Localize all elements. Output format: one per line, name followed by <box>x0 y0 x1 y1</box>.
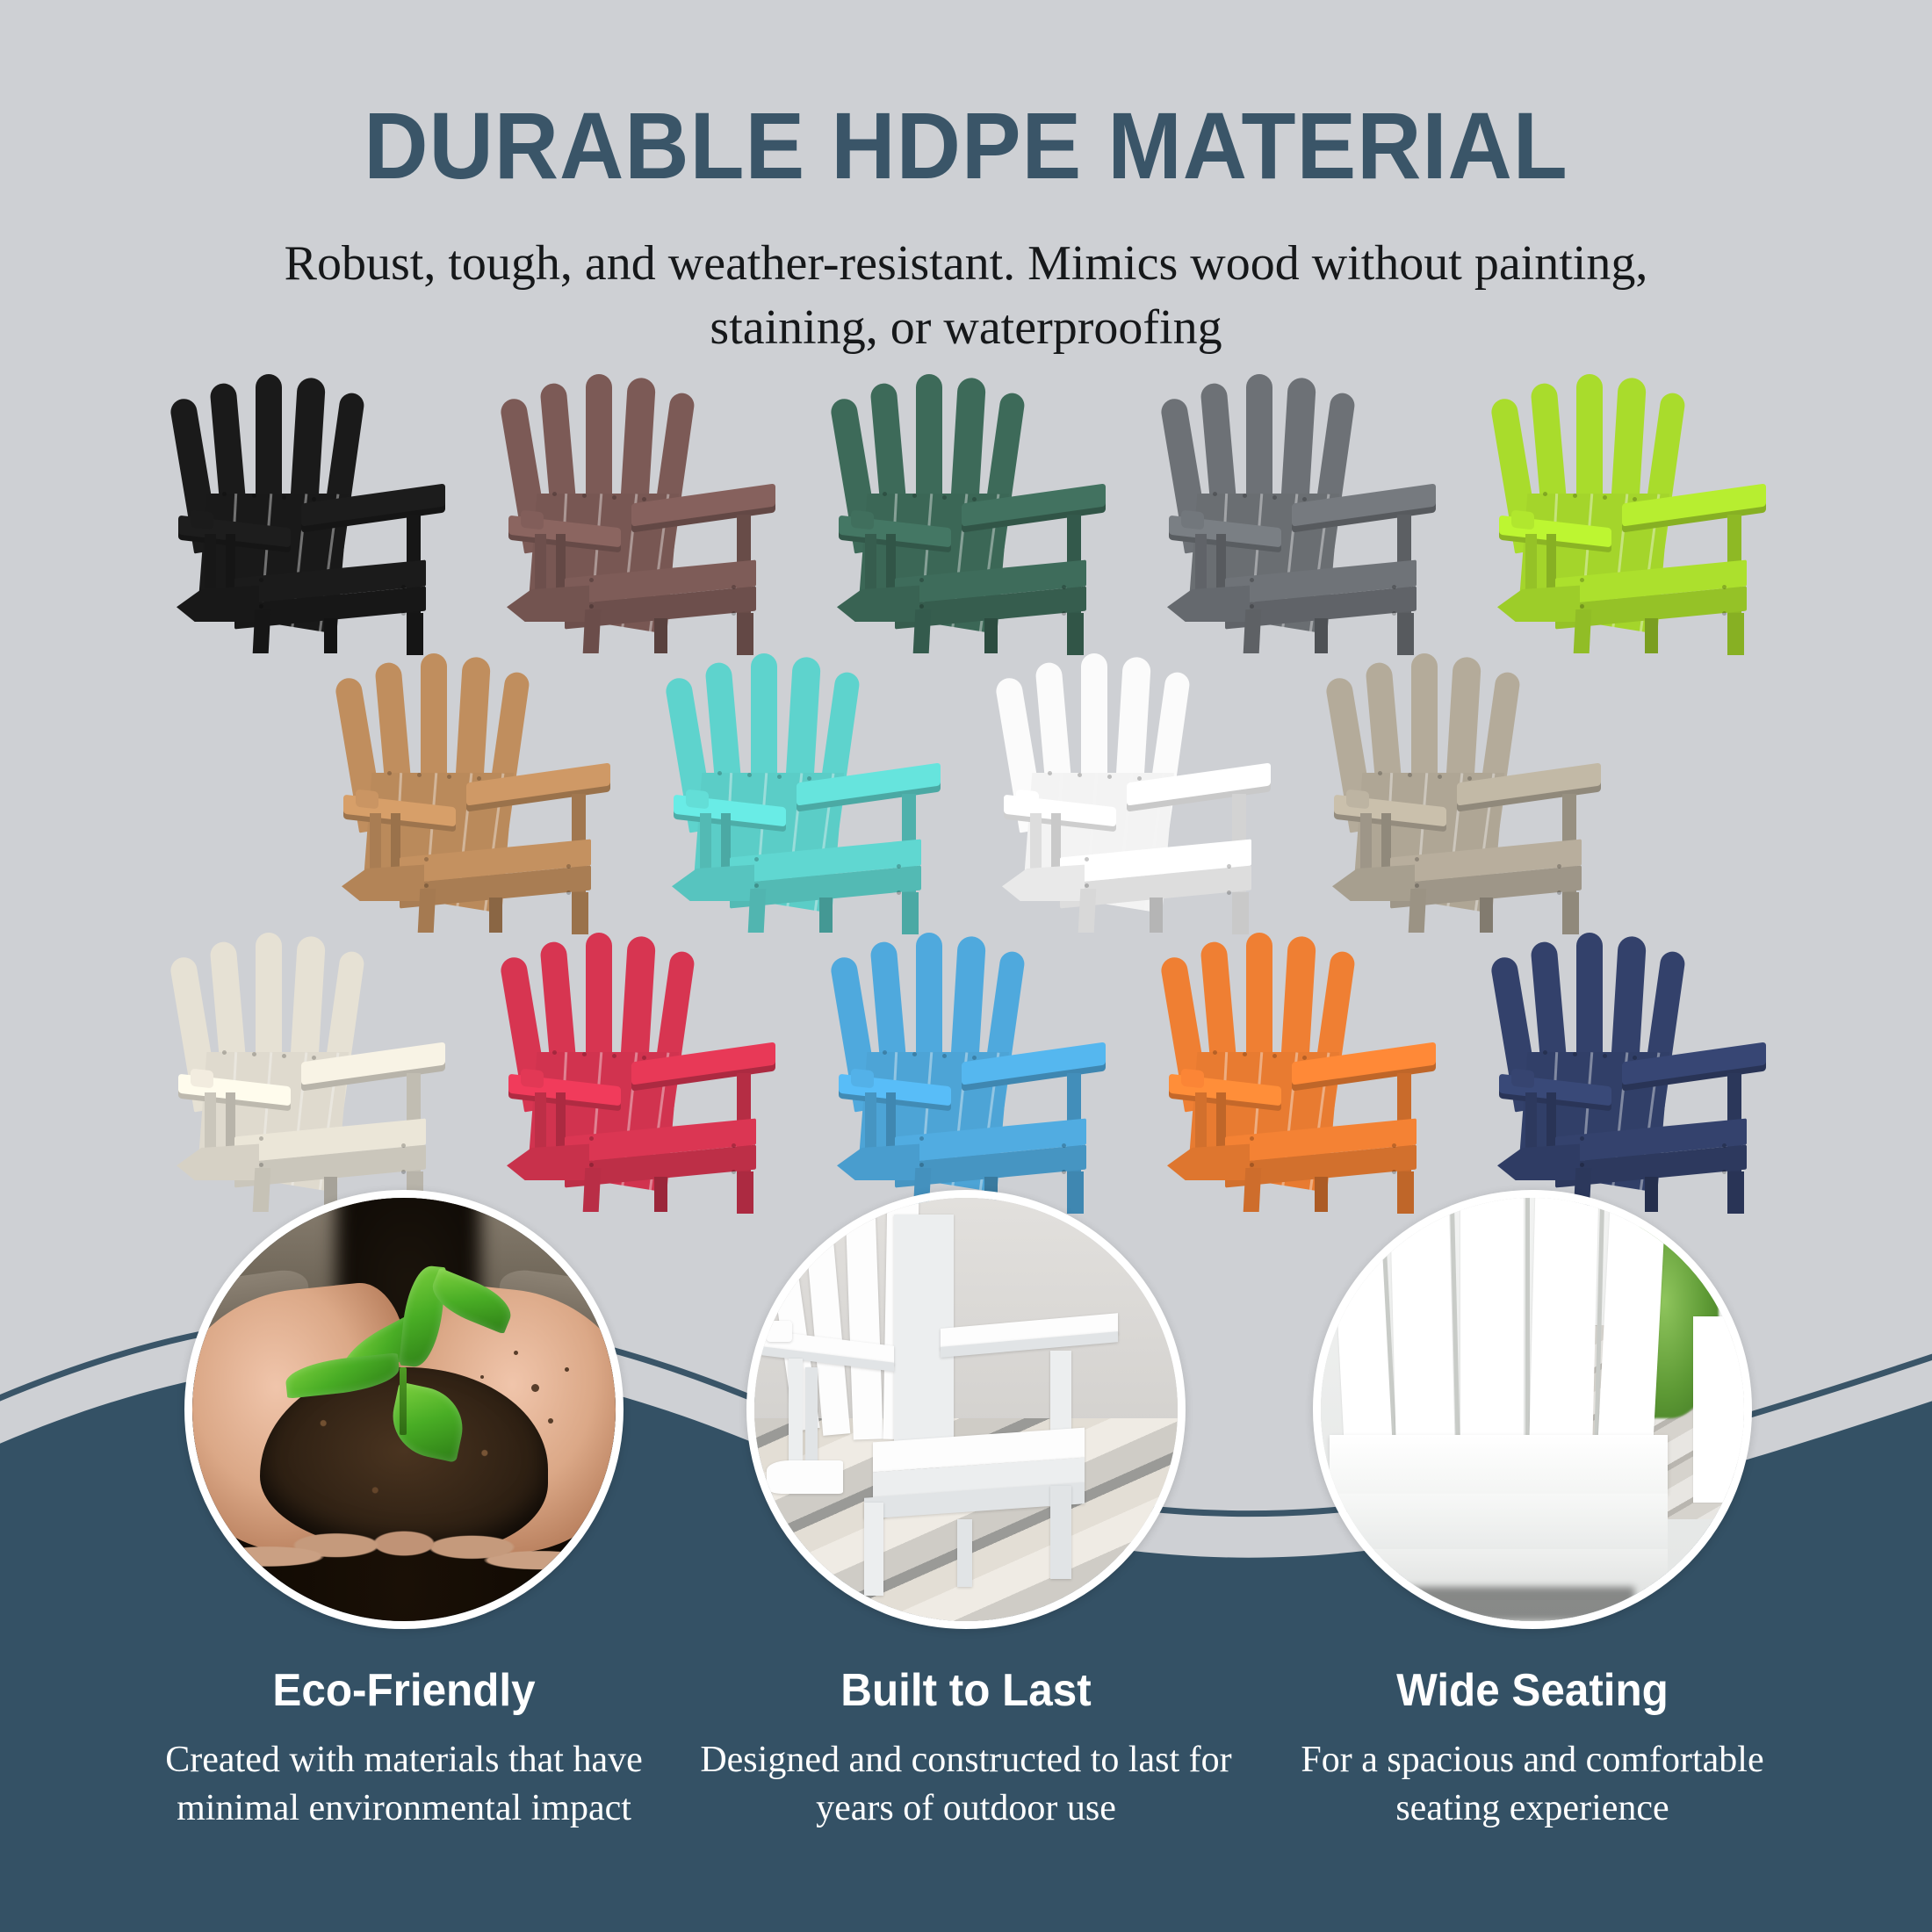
chair-row-1 <box>0 362 1932 652</box>
chair-swatch-teak[interactable] <box>336 641 605 931</box>
feature-description: For a spacious and comfortable seating e… <box>1225 1736 1840 1834</box>
chair-swatch-crimson-red[interactable] <box>501 920 770 1210</box>
feature-image-eco-friendly <box>184 1190 624 1629</box>
white-chair-seat-closeup-icon <box>1321 1198 1744 1621</box>
chair-color-grid <box>0 362 1932 1240</box>
chair-swatch-turquoise[interactable] <box>667 641 935 931</box>
chair-swatch-lime-green[interactable] <box>1492 362 1761 652</box>
header-section: DURABLE HDPE MATERIAL Robust, tough, and… <box>0 0 1932 369</box>
feature-wide-seating: Wide Seating For a spacious and comforta… <box>1225 1190 1840 1834</box>
page-subtitle: Robust, tough, and weather-resistant. Mi… <box>281 232 1651 360</box>
feature-title: Built to Last <box>674 1664 1258 1717</box>
chair-swatch-light-blue[interactable] <box>832 920 1100 1210</box>
chair-swatch-white[interactable] <box>997 641 1265 931</box>
chair-swatch-orange[interactable] <box>1162 920 1431 1210</box>
feature-title: Eco-Friendly <box>112 1664 696 1717</box>
chair-swatch-dark-green[interactable] <box>832 362 1100 652</box>
hands-soil-seedling-icon <box>192 1198 616 1621</box>
chair-row-2 <box>0 641 1932 931</box>
feature-image-built-to-last <box>746 1190 1186 1629</box>
chair-swatch-black[interactable] <box>171 362 440 652</box>
chair-swatch-khaki[interactable] <box>1327 641 1596 931</box>
chair-swatch-brown[interactable] <box>501 362 770 652</box>
feature-description: Created with materials that have minimal… <box>97 1736 711 1834</box>
feature-built-to-last: Built to Last Designed and constructed t… <box>659 1190 1273 1834</box>
chair-row-3 <box>0 920 1932 1210</box>
chair-swatch-gray[interactable] <box>1162 362 1431 652</box>
page-title: DURABLE HDPE MATERIAL <box>58 0 1874 193</box>
feature-description: Designed and constructed to last for yea… <box>659 1736 1273 1834</box>
white-adirondack-chair-photo-icon <box>754 1198 1178 1621</box>
features-section: Eco-Friendly Created with materials that… <box>0 1190 1932 1932</box>
chair-swatch-ivory[interactable] <box>171 920 440 1210</box>
feature-title: Wide Seating <box>1241 1664 1825 1717</box>
chair-swatch-navy-blue[interactable] <box>1492 920 1761 1210</box>
feature-image-wide-seating <box>1313 1190 1752 1629</box>
feature-eco-friendly: Eco-Friendly Created with materials that… <box>97 1190 711 1834</box>
